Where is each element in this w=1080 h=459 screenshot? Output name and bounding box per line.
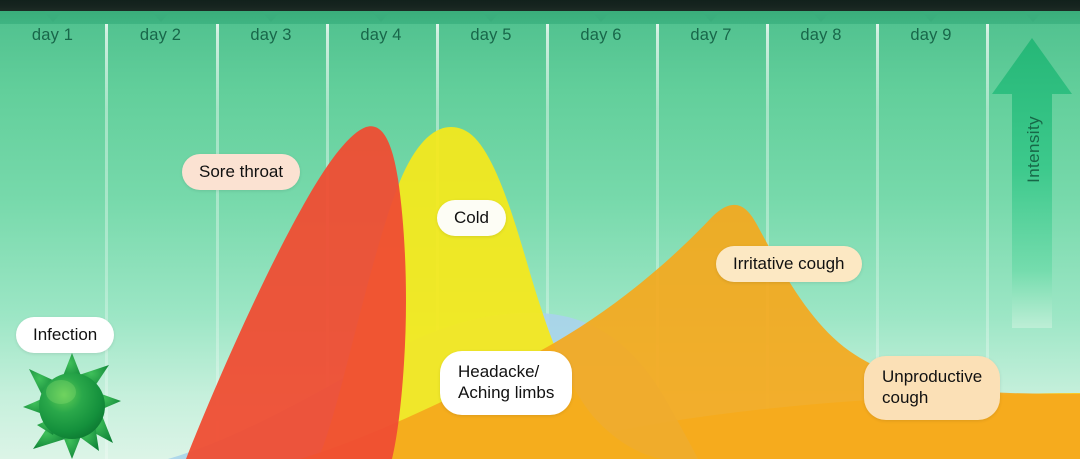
day-cell-9: day 9 [876,11,986,71]
day-cell-8: day 8 [766,11,876,71]
day-tick-icon [1024,11,1042,22]
label-sore-throat: Sore throat [182,154,300,190]
label-irritative-cough: Irritative cough [716,246,862,282]
day-label: day 8 [766,26,876,45]
day-cell-5: day 5 [436,11,546,71]
day-tick-icon [44,11,62,22]
day-tick-icon [152,11,170,22]
virus-icon [17,347,127,459]
day-label: day 3 [216,26,326,45]
day-tick-icon [372,11,390,22]
day-label: day 2 [105,26,216,45]
day-tick-icon [592,11,610,22]
day-cell-7: day 7 [656,11,766,71]
day-label: day 4 [326,26,436,45]
day-cell-4: day 4 [326,11,436,71]
intensity-axis-label: Intensity [1024,116,1044,183]
symptom-progression-chart: Intensity [0,0,1080,459]
label-headache-aching-limbs: Headacke/ Aching limbs [440,351,572,415]
plot-surface: Intensity [0,11,1080,459]
label-infection: Infection [16,317,114,353]
day-tick-icon [922,11,940,22]
day-label: day 5 [436,26,546,45]
label-unproductive-cough: Unproductive cough [864,356,1000,420]
day-cell-2: day 2 [105,11,216,71]
top-dark-bar [0,0,1080,11]
day-tick-icon [482,11,500,22]
day-tick-icon [702,11,720,22]
day-tick-icon [262,11,280,22]
day-label: day 7 [656,26,766,45]
day-tick-icon [812,11,830,22]
day-cell-1: day 1 [0,11,105,71]
day-cell-3: day 3 [216,11,326,71]
day-cell-6: day 6 [546,11,656,71]
day-label: day 1 [0,26,105,45]
day-label: day 9 [876,26,986,45]
label-cold: Cold [437,200,506,236]
day-label: day 6 [546,26,656,45]
